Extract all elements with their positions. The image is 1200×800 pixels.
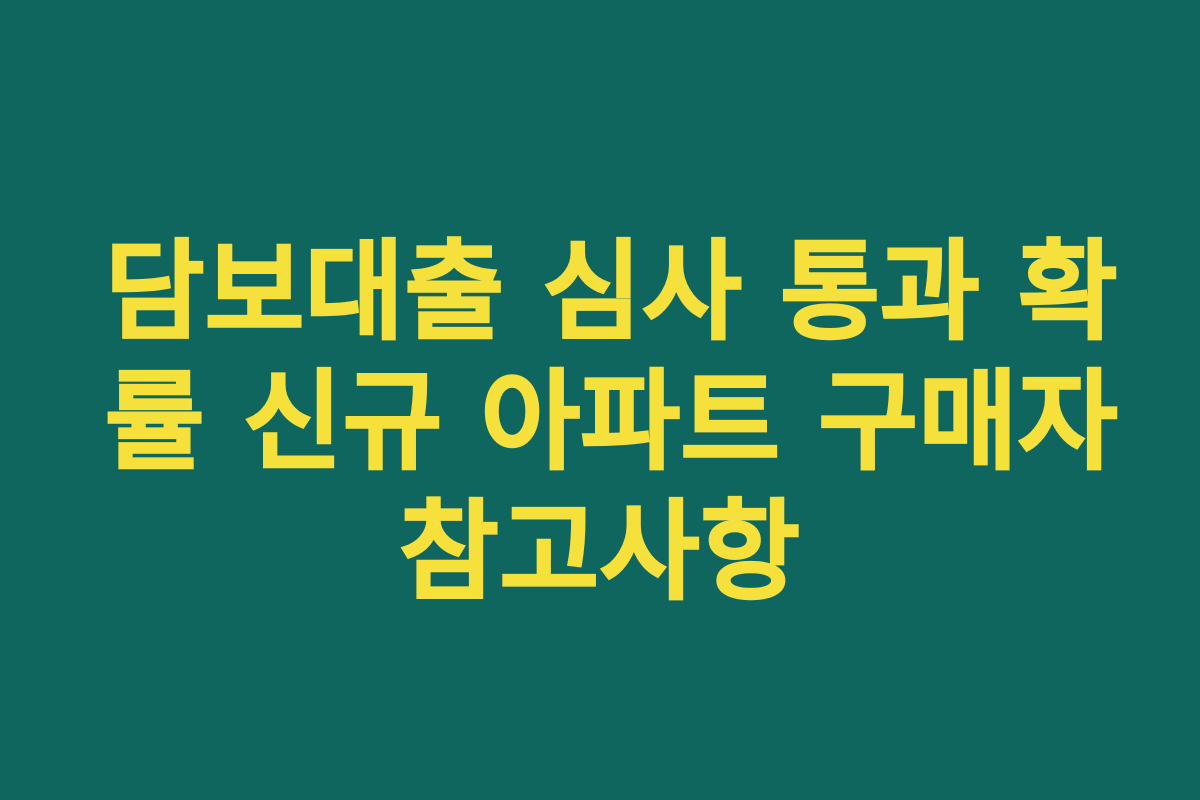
headline-line-2: 률 신규 아파트 구매자: [105, 358, 1095, 488]
headline-line-3: 참고사항: [105, 488, 1095, 618]
headline-line-1: 담보대출 심사 통과 확: [105, 228, 1095, 358]
banner-canvas: 담보대출 심사 통과 확 률 신규 아파트 구매자 참고사항: [0, 0, 1200, 800]
headline-text-block: 담보대출 심사 통과 확 률 신규 아파트 구매자 참고사항: [105, 228, 1095, 618]
